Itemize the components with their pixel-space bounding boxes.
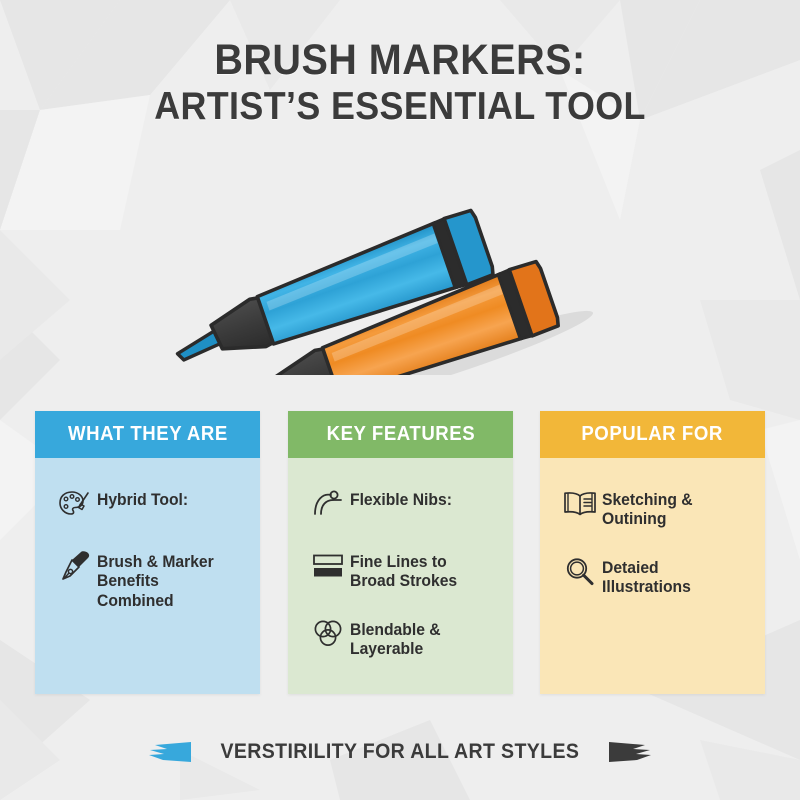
brush-markers-illustration [150,175,650,375]
brush-stroke-left-icon [147,739,193,765]
card-what-they-are[interactable]: WHAT THEY ARE [35,411,260,694]
list-item[interactable]: Blendable & Layerable [306,614,499,660]
card-header-key-features: KEY FEATURES [288,411,513,458]
line-weights-icon [306,546,350,586]
list-item-label: Fine Lines toBroad Strokes [350,546,457,592]
list-item[interactable]: Flexible Nibs: [306,484,499,524]
card-body-popular-for: Sketching &Outining DetaiedIllustrations [540,458,765,694]
feature-cards-row: WHAT THEY ARE [0,411,800,696]
card-key-features[interactable]: KEY FEATURES Flexible Nibs: [288,411,513,694]
footer-label: VERSTIRILITY FOR ALL ART STYLES [221,740,580,764]
venn-circles-icon [306,614,350,654]
list-item-label: DetaiedIllustrations [602,552,691,598]
list-item-label: Blendable & Layerable [350,614,492,660]
card-title: WHAT THEY ARE [68,423,228,446]
list-item-label: Flexible Nibs: [350,484,452,510]
card-title: POPULAR FOR [582,423,724,446]
list-item-label: Hybrid Tool: [97,484,188,510]
open-book-icon [558,484,602,524]
pen-nib-icon [53,546,97,586]
title-line-secondary: ARTIST’S ESSENTIAL TOOL [32,84,768,130]
page-title: BRUSH MARKERS: ARTIST’S ESSENTIAL TOOL [0,38,800,130]
list-item[interactable]: Brush & MarkerBenefits Combined [53,546,246,611]
card-popular-for[interactable]: POPULAR FOR Sketching &Outining [540,411,765,694]
list-item[interactable]: Hybrid Tool: [53,484,246,524]
list-item[interactable]: DetaiedIllustrations [558,552,751,598]
title-line-primary: BRUSH MARKERS: [32,38,768,84]
card-header-popular-for: POPULAR FOR [540,411,765,458]
magnifier-icon [558,552,602,592]
card-header-what-they-are: WHAT THEY ARE [35,411,260,458]
list-item[interactable]: Sketching &Outining [558,484,751,530]
list-item-label: Brush & MarkerBenefits Combined [97,546,239,611]
footer-banner: VERSTIRILITY FOR ALL ART STYLES [0,728,800,776]
list-item-label: Sketching &Outining [602,484,693,530]
card-body-what-they-are: Hybrid Tool: Brush & MarkerBenefits Comb… [35,458,260,694]
list-item[interactable]: Fine Lines toBroad Strokes [306,546,499,592]
palette-icon [53,484,97,524]
brush-stroke-right-icon [607,739,653,765]
infographic-poster: BRUSH MARKERS: ARTIST’S ESSENTIAL TOOL [0,0,800,800]
flexible-curve-icon [306,484,350,524]
card-title: KEY FEATURES [326,423,475,446]
card-body-key-features: Flexible Nibs: Fine Lines toBroad Stroke… [288,458,513,694]
